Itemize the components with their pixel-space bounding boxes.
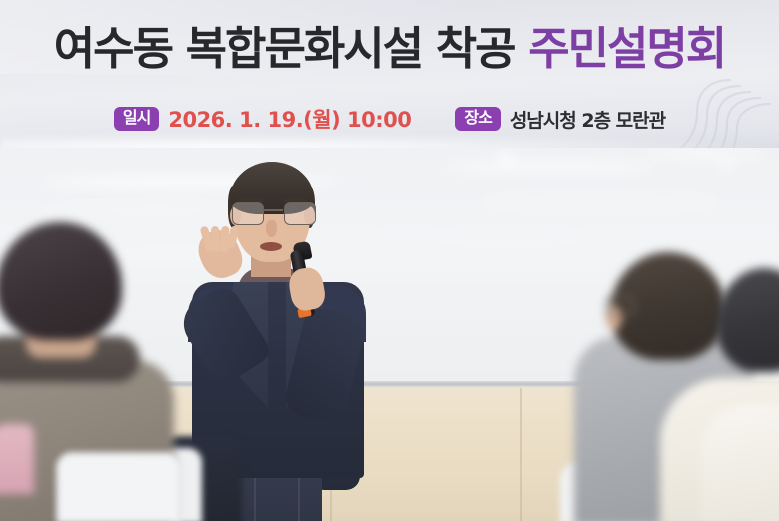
banner-subline: 일시 2026. 1. 19.(월) 10:00 장소 성남시청 2층 모란관 bbox=[0, 104, 779, 134]
event-photo: 여수동 복합문화시설 착공 주민설명회 일시 2026. 1. 19.(월) 1… bbox=[0, 0, 779, 521]
mouth bbox=[260, 242, 282, 251]
attendee-pink-garment bbox=[0, 424, 34, 494]
eyeglasses-icon bbox=[606, 296, 634, 316]
attendee-shoulder bbox=[700, 404, 779, 521]
banner-title-main: 여수동 복합문화시설 착공 bbox=[54, 22, 515, 75]
date-value: 2026. 1. 19.(월) 10:00 bbox=[168, 104, 411, 134]
date-label-chip: 일시 bbox=[114, 107, 159, 131]
event-banner: 여수동 복합문화시설 착공 주민설명회 일시 2026. 1. 19.(월) 1… bbox=[0, 0, 779, 148]
fingers bbox=[203, 226, 237, 252]
nose bbox=[266, 220, 277, 237]
place-value: 성남시청 2층 모란관 bbox=[510, 106, 665, 133]
banner-bottom-glow bbox=[0, 134, 779, 148]
banner-title-accent: 주민설명회 bbox=[528, 22, 725, 75]
place-label-chip: 장소 bbox=[455, 107, 500, 131]
chair bbox=[56, 452, 182, 521]
banner-title: 여수동 복합문화시설 착공 주민설명회 bbox=[0, 26, 779, 71]
